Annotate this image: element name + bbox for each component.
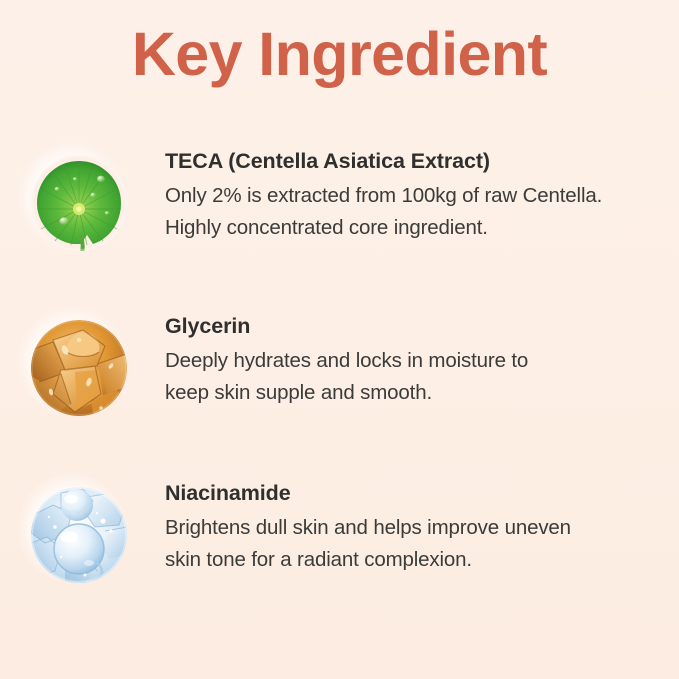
centella-leaf-icon	[31, 155, 127, 251]
ingredient-description: Deeply hydrates and locks in moisture to…	[165, 345, 643, 409]
page-title: Key Ingredient	[132, 24, 547, 85]
ingredient-text-slot: Glycerin Deeply hydrates and locks in mo…	[165, 313, 679, 409]
description-line: Highly concentrated core ingredient.	[165, 212, 643, 244]
ingredient-description: Brightens dull skin and helps improve un…	[165, 512, 643, 576]
ingredient-thumbnail-slot	[0, 480, 165, 590]
ingredient-name: Niacinamide	[165, 480, 643, 507]
description-line: keep skin supple and smooth.	[165, 377, 643, 409]
ingredient-row: Glycerin Deeply hydrates and locks in mo…	[0, 313, 679, 423]
glycerin-amber-image	[24, 313, 134, 423]
ingredient-name: TECA (Centella Asiatica Extract)	[165, 148, 643, 175]
description-line: Only 2% is extracted from 100kg of raw C…	[165, 180, 643, 212]
centella-leaf-image	[24, 148, 134, 258]
glycerin-crystals-icon	[31, 320, 127, 416]
ingredient-text-slot: TECA (Centella Asiatica Extract) Only 2%…	[165, 148, 679, 244]
ingredient-text-slot: Niacinamide Brightens dull skin and help…	[165, 480, 679, 576]
thumbnail-clip	[31, 155, 127, 251]
niacinamide-water-image	[24, 480, 134, 590]
thumbnail-clip	[31, 320, 127, 416]
water-bubbles-icon	[31, 487, 127, 583]
description-line: skin tone for a radiant complexion.	[165, 544, 643, 576]
page-title-container: Key Ingredient	[0, 0, 679, 108]
ingredient-description: Only 2% is extracted from 100kg of raw C…	[165, 180, 643, 244]
ingredient-thumbnail-slot	[0, 313, 165, 423]
ingredient-name: Glycerin	[165, 313, 643, 340]
ingredient-row: TECA (Centella Asiatica Extract) Only 2%…	[0, 148, 679, 258]
description-line: Deeply hydrates and locks in moisture to	[165, 345, 643, 377]
ingredient-row: Niacinamide Brightens dull skin and help…	[0, 480, 679, 590]
description-line: Brightens dull skin and helps improve un…	[165, 512, 643, 544]
ingredient-thumbnail-slot	[0, 148, 165, 258]
ingredient-infographic: Key Ingredient	[0, 0, 679, 679]
thumbnail-clip	[31, 487, 127, 583]
